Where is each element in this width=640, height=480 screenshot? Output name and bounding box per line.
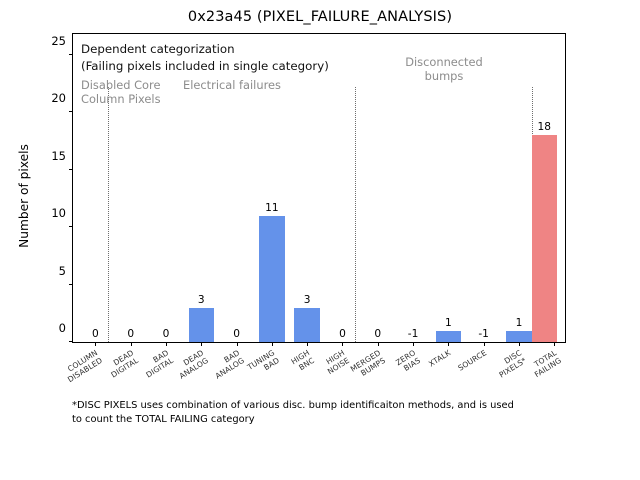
annotation-electrical-failures: Electrical failures [183,78,281,92]
bar-value-xtalk: 1 [445,317,452,329]
y-tick-mark-15 [69,169,73,170]
x-tick-mark-4 [237,342,238,346]
page-title: 0x23a45 (PIXEL_FAILURE_ANALYSIS) [0,9,640,25]
bar-value-column-disabled: 0 [92,328,99,340]
bar-value-dead-analog: 3 [198,294,205,306]
bar-value-dead-digital: 0 [127,328,134,340]
annotation-dependent-line1: Dependent categorization [81,42,235,57]
y-tick-mark-0 [69,341,73,342]
x-tick-mark-2 [166,342,167,346]
chart-figure: 0x23a45 (PIXEL_FAILURE_ANALYSIS) Number … [0,0,640,480]
bar-value-zero-bias: -1 [408,328,419,340]
annotation-disconnected-bumps-line2: bumps [425,69,464,83]
x-tick-label-zero-bias: ZERO BIAS [395,349,422,375]
x-tick-mark-7 [342,342,343,346]
y-tick-mark-10 [69,226,73,227]
footnote: *DISC PIXELS uses combination of various… [72,399,572,428]
group-divider-2 [355,87,356,342]
bar-value-high-noise: 0 [339,328,346,340]
x-tick-label-high-bnc: HIGH BNC [290,349,316,374]
footnote-line-1: *DISC PIXELS uses combination of various… [72,399,572,413]
x-tick-mark-13 [554,342,555,346]
annotation-disconnected-bumps-line1: Disconnected [405,55,483,69]
x-tick-label-merged-bumps: MERGED BUMPS [349,349,387,381]
bar-xtalk[interactable]: 1 [436,331,461,342]
annotation-dependent-line2: (Failing pixels included in single categ… [81,59,329,74]
x-tick-label-column-disabled: COLUMN DISABLED [62,349,104,384]
x-tick-label-xtalk: XTALK [428,349,453,369]
y-tick-label-15: 15 [33,149,73,163]
y-tick-label-0: 0 [33,321,73,335]
group-divider-1 [108,87,109,342]
x-tick-label-source: SOURCE [457,349,489,373]
annotation-disabled-core-line2: Column Pixels [81,92,161,106]
x-tick-mark-8 [378,342,379,346]
bar-value-total-failing: 18 [537,121,550,133]
footnote-line-2: to count the TOTAL FAILING category [72,413,572,427]
x-tick-label-high-noise: HIGH NOISE [322,349,351,376]
bar-value-bad-digital: 0 [163,328,170,340]
bar-disc-pixels[interactable]: 1 [506,331,531,342]
x-tick-mark-6 [307,342,308,346]
y-tick-mark-20 [69,111,73,112]
y-tick-label-5: 5 [33,264,73,278]
annotation-disabled-core-line1: Disabled Core [81,78,160,92]
y-tick-label-10: 10 [33,206,73,220]
bar-value-source: -1 [478,328,489,340]
x-tick-mark-10 [448,342,449,346]
plot-area: Number of pixels 0 5 10 15 20 25 Depende… [72,33,566,343]
x-tick-mark-1 [131,342,132,346]
x-tick-mark-3 [201,342,202,346]
x-tick-mark-9 [413,342,414,346]
x-tick-label-line1: XTALK [428,349,453,369]
x-tick-label-disc-pixels: DISC PIXELS* [493,349,528,380]
x-tick-label-dead-digital: DEAD DIGITAL [105,349,140,380]
x-tick-label-bad-analog: BAD ANALOG [209,349,246,381]
bar-total-failing[interactable]: 18 [532,135,557,342]
y-tick-mark-5 [69,284,73,285]
x-tick-mark-11 [484,342,485,346]
x-tick-label-total-failing: TOTAL FAILING [529,349,563,379]
x-tick-label-bad-digital: BAD DIGITAL [140,349,175,380]
bar-value-tuning-bad: 11 [265,202,278,214]
bar-high-bnc[interactable]: 3 [294,308,319,342]
x-tick-mark-5 [272,342,273,346]
bar-dead-analog[interactable]: 3 [189,308,214,342]
bar-value-bad-analog: 0 [233,328,240,340]
x-tick-mark-0 [95,342,96,346]
x-tick-mark-12 [519,342,520,346]
y-tick-label-20: 20 [33,91,73,105]
bar-tuning-bad[interactable]: 11 [259,216,284,342]
x-tick-label-line1: SOURCE [457,349,489,373]
y-tick-mark-25 [69,54,73,55]
bar-value-merged-bumps: 0 [374,328,381,340]
bar-value-disc-pixels: 1 [516,317,523,329]
y-tick-label-25: 25 [33,34,73,48]
y-axis-label: Number of pixels [17,96,31,296]
bar-value-high-bnc: 3 [304,294,311,306]
x-tick-label-tuning-bad: TUNING BAD [246,349,281,379]
x-tick-label-dead-analog: DEAD ANALOG [174,349,211,381]
